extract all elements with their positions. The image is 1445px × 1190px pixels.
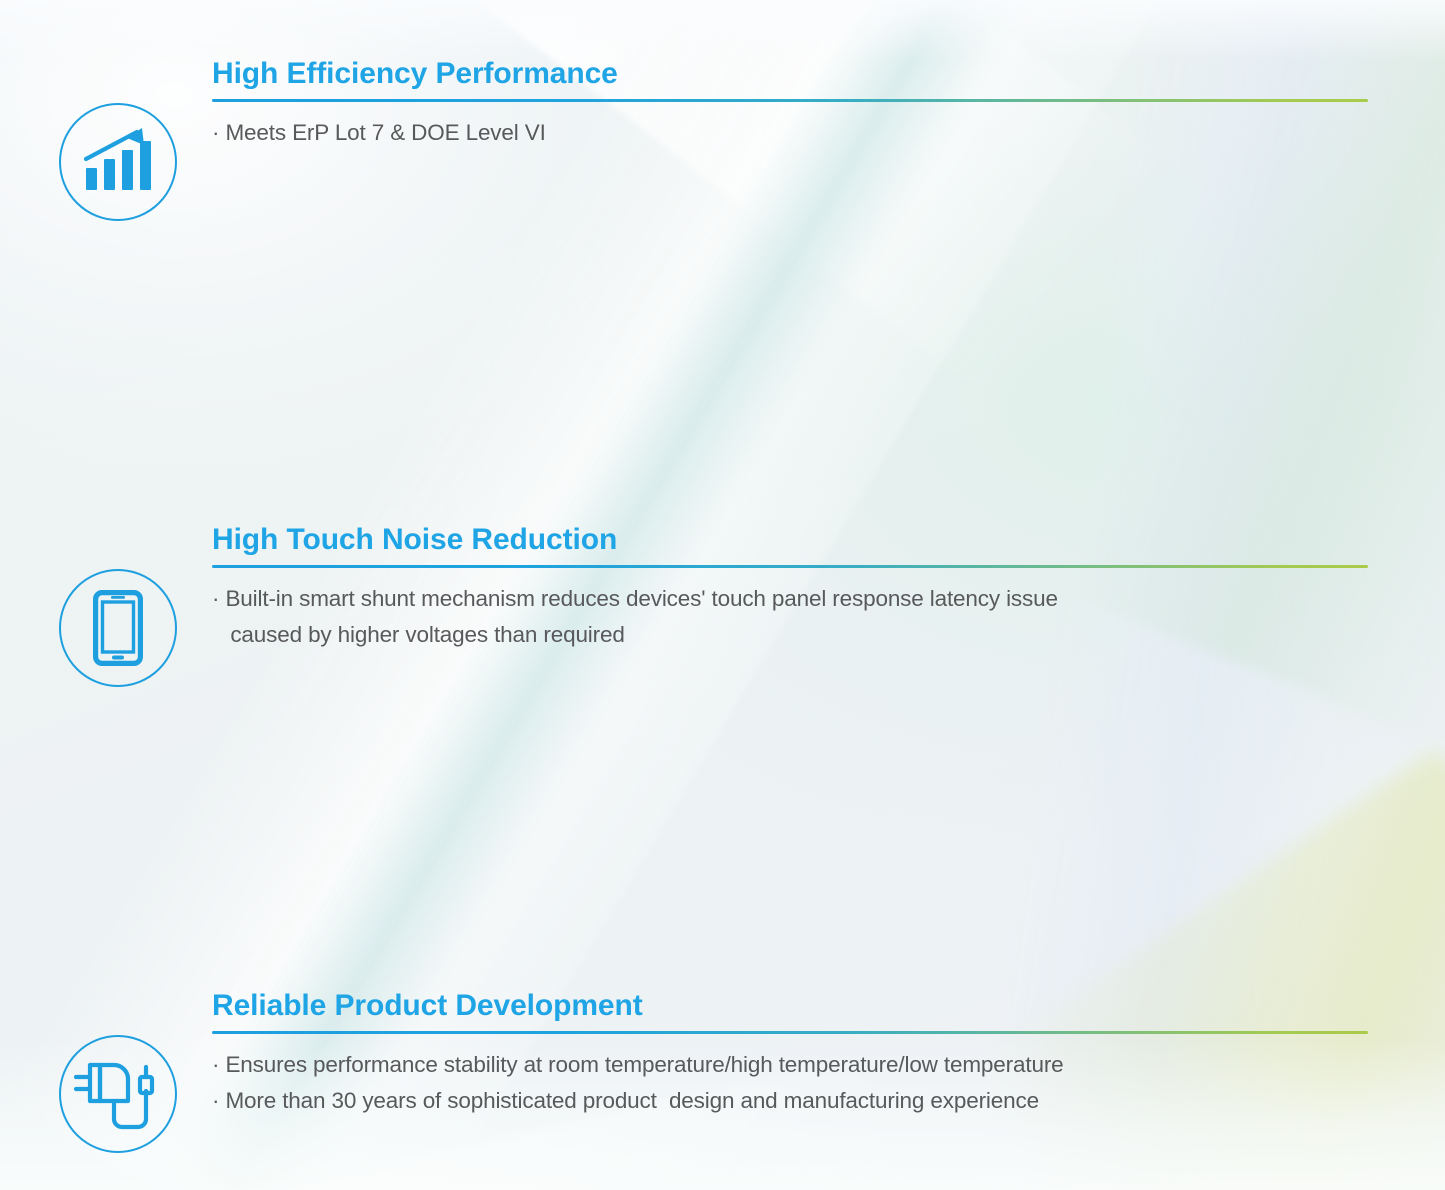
feature-title: High Touch Noise Reduction [212, 524, 1372, 556]
feature-text-block: High Touch Noise Reduction · Built-in sm… [212, 524, 1372, 653]
feature-title: Reliable Product Development [212, 990, 1372, 1022]
feature-description: · Meets ErP Lot 7 & DOE Level VI [212, 115, 1372, 151]
feature-divider [212, 1031, 1368, 1034]
feature-divider [212, 99, 1368, 102]
feature-bullet-line: caused by higher voltages than required [212, 617, 1372, 653]
feature-title: High Efficiency Performance [212, 58, 1372, 90]
feature-bullet-line: · Ensures performance stability at room … [212, 1047, 1372, 1083]
feature-bullet-line: · Built-in smart shunt mechanism reduces… [212, 581, 1372, 617]
feature-description: · Built-in smart shunt mechanism reduces… [212, 581, 1372, 654]
feature-text-block: High Efficiency Performance · Meets ErP … [212, 58, 1372, 151]
feature-bullet-line: · More than 30 years of sophisticated pr… [212, 1083, 1372, 1119]
feature-bullet-line: · Meets ErP Lot 7 & DOE Level VI [212, 115, 1372, 151]
feature-text-block: Reliable Product Development · Ensures p… [212, 990, 1372, 1119]
feature-description: · Ensures performance stability at room … [212, 1047, 1372, 1120]
feature-divider [212, 565, 1368, 568]
power-adapter-icon [59, 1035, 177, 1153]
feature-list-panel: High Efficiency Performance · Meets ErP … [0, 0, 1445, 1190]
smartphone-icon [59, 569, 177, 687]
bar-chart-growth-icon [59, 103, 177, 221]
